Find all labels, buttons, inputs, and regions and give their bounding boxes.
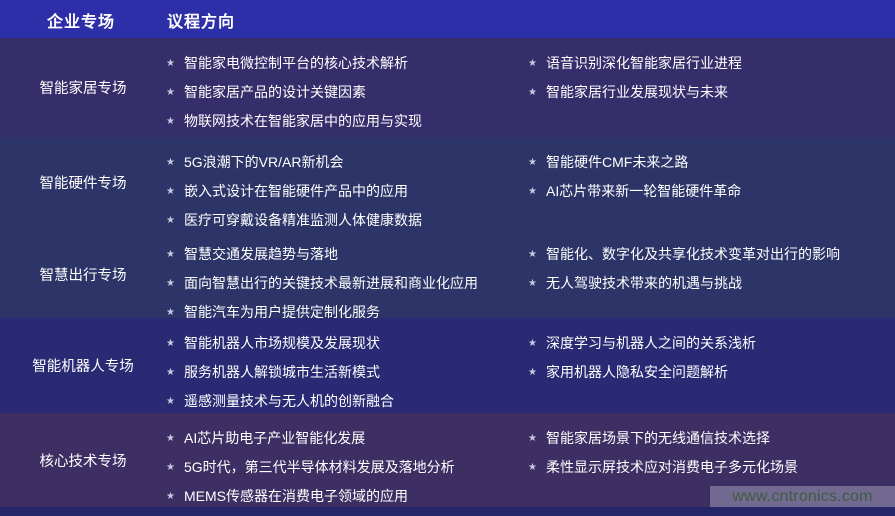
- topics-cell: ★ 智能机器人市场规模及发展现状 ★ 服务机器人解锁城市生活新模式 ★ 遥感测量…: [166, 318, 895, 413]
- topic-column-left: ★ 智能家电微控制平台的核心技术解析 ★ 智能家居产品的设计关键因素 ★ 物联网…: [166, 38, 528, 137]
- star-bullet-icon: ★: [166, 393, 184, 410]
- star-bullet-icon: ★: [528, 430, 546, 447]
- track-name: 核心技术专场: [0, 453, 166, 472]
- topic-item: ★ 智能家居场景下的无线通信技术选择: [528, 430, 770, 447]
- star-bullet-icon: ★: [166, 84, 184, 101]
- topic-item: ★ 语音识别深化智能家居行业进程: [528, 55, 742, 72]
- topic-text: 智能硬件CMF未来之路: [546, 154, 688, 171]
- topic-text: 智能家居行业发展现状与未来: [546, 84, 728, 101]
- topic-item: ★ MEMS传感器在消费电子领域的应用: [166, 488, 408, 505]
- topic-column-left: ★ 智慧交通发展趋势与落地 ★ 面向智慧出行的关键技术最新进展和商业化应用 ★ …: [166, 229, 528, 318]
- table-row: 智能机器人专场 ★ 智能机器人市场规模及发展现状 ★ 服务机器人解锁城市生活新模…: [0, 318, 895, 413]
- topic-text: MEMS传感器在消费电子领域的应用: [184, 488, 408, 505]
- topic-item: ★ 智慧交通发展趋势与落地: [166, 246, 338, 263]
- star-bullet-icon: ★: [166, 113, 184, 130]
- topic-item: ★ 家用机器人隐私安全问题解析: [528, 364, 728, 381]
- star-bullet-icon: ★: [166, 364, 184, 381]
- topic-item: ★ AI芯片助电子产业智能化发展: [166, 430, 365, 447]
- topic-text: 面向智慧出行的关键技术最新进展和商业化应用: [184, 275, 478, 292]
- topic-item: ★ 智能硬件CMF未来之路: [528, 154, 688, 171]
- topic-text: 物联网技术在智能家居中的应用与实现: [184, 113, 422, 130]
- track-name: 智能硬件专场: [0, 175, 166, 194]
- topic-item: ★ 柔性显示屏技术应对消费电子多元化场景: [528, 459, 798, 476]
- topic-text: 智慧交通发展趋势与落地: [184, 246, 338, 263]
- topic-item: ★ 面向智慧出行的关键技术最新进展和商业化应用: [166, 275, 478, 292]
- topic-item: ★ AI芯片带来新一轮智能硬件革命: [528, 183, 741, 200]
- topic-item: ★ 服务机器人解锁城市生活新模式: [166, 364, 380, 381]
- star-bullet-icon: ★: [166, 335, 184, 352]
- header-cell-track: 企业专场: [47, 8, 115, 32]
- topic-item: ★ 遥感测量技术与无人机的创新融合: [166, 393, 394, 410]
- topic-column-right: ★ 智能硬件CMF未来之路 ★ AI芯片带来新一轮智能硬件革命: [528, 137, 895, 229]
- topics-cell: ★ 智能家电微控制平台的核心技术解析 ★ 智能家居产品的设计关键因素 ★ 物联网…: [166, 38, 895, 137]
- star-bullet-icon: ★: [166, 488, 184, 505]
- site-watermark: www.cntronics.com: [710, 486, 895, 507]
- star-bullet-icon: ★: [528, 84, 546, 101]
- star-bullet-icon: ★: [528, 55, 546, 72]
- star-bullet-icon: ★: [166, 430, 184, 447]
- topic-item: ★ 医疗可穿戴设备精准监测人体健康数据: [166, 212, 422, 229]
- topic-text: 服务机器人解锁城市生活新模式: [184, 364, 380, 381]
- star-bullet-icon: ★: [528, 275, 546, 292]
- star-bullet-icon: ★: [528, 183, 546, 200]
- table-row: 智慧出行专场 ★ 智慧交通发展趋势与落地 ★ 面向智慧出行的关键技术最新进展和商…: [0, 229, 895, 318]
- topic-text: 遥感测量技术与无人机的创新融合: [184, 393, 394, 410]
- topic-column-right: ★ 深度学习与机器人之间的关系浅析 ★ 家用机器人隐私安全问题解析: [528, 318, 895, 413]
- star-bullet-icon: ★: [166, 183, 184, 200]
- topic-text: 嵌入式设计在智能硬件产品中的应用: [184, 183, 408, 200]
- topic-text: 智能化、数字化及共享化技术变革对出行的影响: [546, 246, 840, 263]
- star-bullet-icon: ★: [528, 335, 546, 352]
- topic-text: 智能家电微控制平台的核心技术解析: [184, 55, 408, 72]
- star-bullet-icon: ★: [528, 154, 546, 171]
- topic-item: ★ 5G浪潮下的VR/AR新机会: [166, 154, 343, 171]
- topic-text: 智能家居场景下的无线通信技术选择: [546, 430, 770, 447]
- track-name: 智能家居专场: [0, 80, 166, 99]
- topic-item: ★ 智能家电微控制平台的核心技术解析: [166, 55, 408, 72]
- topic-item: ★ 智能家居行业发展现状与未来: [528, 84, 728, 101]
- topic-text: 5G时代，第三代半导体材料发展及落地分析: [184, 459, 455, 476]
- star-bullet-icon: ★: [166, 154, 184, 171]
- star-bullet-icon: ★: [166, 55, 184, 72]
- star-bullet-icon: ★: [166, 275, 184, 292]
- star-bullet-icon: ★: [166, 459, 184, 476]
- topics-cell: ★ 5G浪潮下的VR/AR新机会 ★ 嵌入式设计在智能硬件产品中的应用 ★ 医疗…: [166, 137, 895, 229]
- star-bullet-icon: ★: [166, 246, 184, 263]
- star-bullet-icon: ★: [528, 246, 546, 263]
- topic-text: 5G浪潮下的VR/AR新机会: [184, 154, 343, 171]
- topic-column-left: ★ AI芯片助电子产业智能化发展 ★ 5G时代，第三代半导体材料发展及落地分析 …: [166, 413, 528, 507]
- track-name: 智慧出行专场: [0, 267, 166, 286]
- table-row: 智能家居专场 ★ 智能家电微控制平台的核心技术解析 ★ 智能家居产品的设计关键因…: [0, 38, 895, 137]
- track-name: 智能机器人专场: [0, 358, 166, 377]
- header-cell-topics: 议程方向: [167, 8, 235, 32]
- topic-item: ★ 物联网技术在智能家居中的应用与实现: [166, 113, 422, 130]
- topic-text: 家用机器人隐私安全问题解析: [546, 364, 728, 381]
- topics-cell: ★ 智慧交通发展趋势与落地 ★ 面向智慧出行的关键技术最新进展和商业化应用 ★ …: [166, 229, 895, 318]
- topic-column-right: ★ 语音识别深化智能家居行业进程 ★ 智能家居行业发展现状与未来: [528, 38, 895, 137]
- topic-item: ★ 5G时代，第三代半导体材料发展及落地分析: [166, 459, 455, 476]
- topic-item: ★ 深度学习与机器人之间的关系浅析: [528, 335, 756, 352]
- bottom-bar: [0, 507, 895, 516]
- topic-text: 智能家居产品的设计关键因素: [184, 84, 366, 101]
- table-row: 智能硬件专场 ★ 5G浪潮下的VR/AR新机会 ★ 嵌入式设计在智能硬件产品中的…: [0, 137, 895, 229]
- conference-agenda-table: 企业专场 议程方向 智能家居专场 ★ 智能家电微控制平台的核心技术解析 ★ 智能…: [0, 0, 895, 516]
- topic-text: AI芯片带来新一轮智能硬件革命: [546, 183, 741, 200]
- topic-text: 深度学习与机器人之间的关系浅析: [546, 335, 756, 352]
- star-bullet-icon: ★: [528, 459, 546, 476]
- star-bullet-icon: ★: [528, 364, 546, 381]
- topic-text: 柔性显示屏技术应对消费电子多元化场景: [546, 459, 798, 476]
- topic-item: ★ 智能化、数字化及共享化技术变革对出行的影响: [528, 246, 840, 263]
- topic-text: 医疗可穿戴设备精准监测人体健康数据: [184, 212, 422, 229]
- topic-text: 无人驾驶技术带来的机遇与挑战: [546, 275, 742, 292]
- topic-item: ★ 无人驾驶技术带来的机遇与挑战: [528, 275, 742, 292]
- topic-item: ★ 嵌入式设计在智能硬件产品中的应用: [166, 183, 408, 200]
- topic-column-left: ★ 智能机器人市场规模及发展现状 ★ 服务机器人解锁城市生活新模式 ★ 遥感测量…: [166, 318, 528, 413]
- topic-text: 智能机器人市场规模及发展现状: [184, 335, 380, 352]
- topic-text: AI芯片助电子产业智能化发展: [184, 430, 365, 447]
- table-header: 企业专场 议程方向: [0, 0, 895, 38]
- topic-column-right: ★ 智能化、数字化及共享化技术变革对出行的影响 ★ 无人驾驶技术带来的机遇与挑战: [528, 229, 895, 318]
- topic-text: 语音识别深化智能家居行业进程: [546, 55, 742, 72]
- topic-item: ★ 智能机器人市场规模及发展现状: [166, 335, 380, 352]
- topic-column-left: ★ 5G浪潮下的VR/AR新机会 ★ 嵌入式设计在智能硬件产品中的应用 ★ 医疗…: [166, 137, 528, 229]
- topic-item: ★ 智能家居产品的设计关键因素: [166, 84, 366, 101]
- star-bullet-icon: ★: [166, 212, 184, 229]
